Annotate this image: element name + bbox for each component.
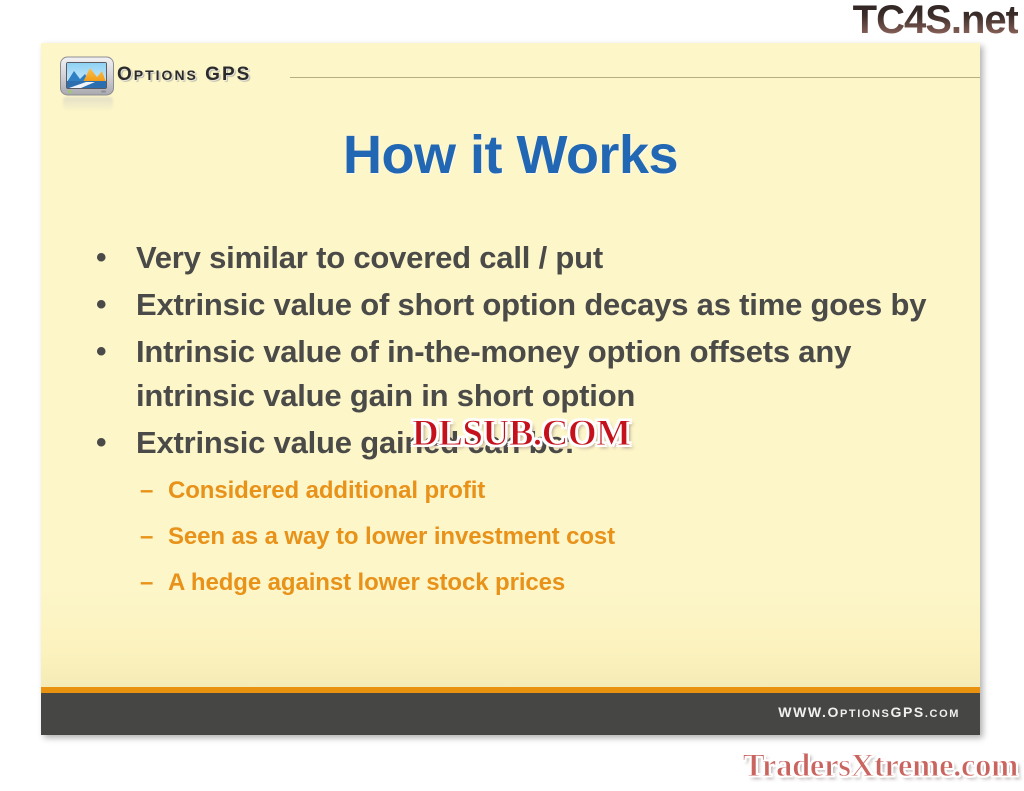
bullet-marker: • bbox=[96, 330, 136, 374]
page-title: How it Works bbox=[41, 124, 980, 186]
bullet-text: Extrinsic value of short option decays a… bbox=[136, 283, 936, 327]
bullet-text: Very similar to covered call / put bbox=[136, 236, 936, 280]
sub-bullet-marker: – bbox=[140, 514, 168, 559]
bullet-item: • Extrinsic value of short option decays… bbox=[96, 283, 958, 327]
sub-bullet-item: – Seen as a way to lower investment cost bbox=[140, 514, 958, 559]
sub-bullet-marker: – bbox=[140, 468, 168, 513]
sub-bullet-text: A hedge against lower stock prices bbox=[168, 560, 958, 605]
sub-bullet-marker: – bbox=[140, 560, 168, 605]
bullet-text: Intrinsic value of in-the-money option o… bbox=[136, 330, 936, 418]
sub-bullet-text: Considered additional profit bbox=[168, 468, 958, 513]
sub-bullet-text: Seen as a way to lower investment cost bbox=[168, 514, 958, 559]
sub-bullet-item: – Considered additional profit bbox=[140, 468, 958, 513]
bullet-marker: • bbox=[96, 236, 136, 280]
logo-reflection bbox=[63, 97, 113, 111]
watermark-tradersxtreme: TradersXtreme.com bbox=[743, 748, 1018, 785]
sub-bullet-item: – A hedge against lower stock prices bbox=[140, 560, 958, 605]
footer-url: WWW.OPTIONSGPS.COM bbox=[778, 704, 960, 720]
bullet-item: • Intrinsic value of in-the-money option… bbox=[96, 330, 958, 418]
bullet-marker: • bbox=[96, 283, 136, 327]
watermark-tc4s: TC4S.net bbox=[853, 0, 1018, 43]
gps-navigator-icon bbox=[59, 55, 117, 99]
bullet-text: Extrinsic value gained can be: bbox=[136, 421, 936, 465]
header-divider bbox=[290, 77, 980, 78]
presentation-slide: OPTIONS GPS How it Works • Very similar … bbox=[41, 43, 980, 735]
slide-header: OPTIONS GPS bbox=[41, 43, 980, 105]
bullet-marker: • bbox=[96, 421, 136, 465]
brand-wordmark: OPTIONS GPS bbox=[117, 64, 251, 86]
bullet-item: • Extrinsic value gained can be: bbox=[96, 421, 958, 465]
bullet-list: • Very similar to covered call / put • E… bbox=[96, 236, 958, 606]
sub-bullet-list: – Considered additional profit – Seen as… bbox=[140, 468, 958, 605]
slide-footer: WWW.OPTIONSGPS.COM bbox=[41, 693, 980, 735]
bullet-item: • Very similar to covered call / put bbox=[96, 236, 958, 280]
